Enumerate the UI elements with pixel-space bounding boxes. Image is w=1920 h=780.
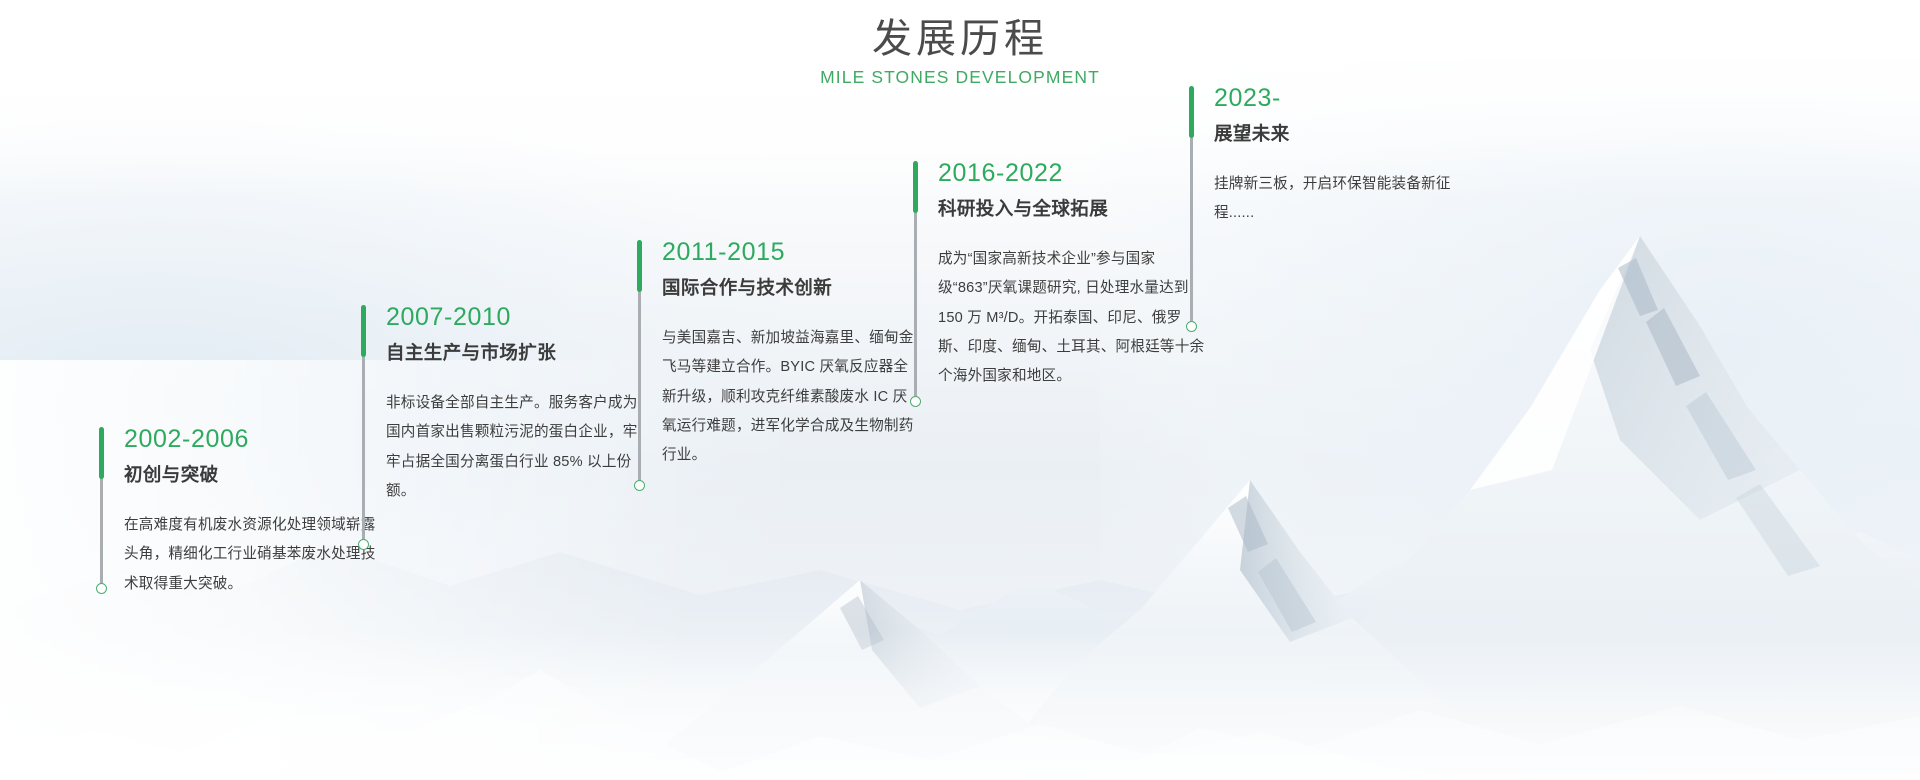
timeline-end-dot-3	[634, 480, 645, 491]
milestone-year-5: 2023-	[1214, 86, 1510, 111]
timeline-rail-3	[638, 240, 641, 485]
timeline-rail-5	[1190, 86, 1193, 326]
timeline-rail-1	[100, 427, 103, 587]
timeline-accent-cap-4	[913, 161, 918, 213]
milestone-desc-1: 在高难度有机废水资源化处理领域崭露头角，精细化工行业硝基苯废水处理技术取得重大突…	[124, 511, 382, 599]
milestone-item-5[interactable]: 2023- 展望未来 挂牌新三板，开启环保智能装备新征程......	[1190, 86, 1510, 229]
timeline-accent-cap-2	[361, 305, 366, 357]
milestone-item-4[interactable]: 2016-2022 科研投入与全球拓展 成为“国家高新技术企业”参与国家级“86…	[914, 161, 1234, 391]
milestone-heading-5: 展望未来	[1214, 122, 1510, 145]
timeline-accent-cap-1	[99, 427, 104, 479]
timeline-end-dot-4	[910, 396, 921, 407]
milestone-body-5: 2023- 展望未来 挂牌新三板，开启环保智能装备新征程......	[1190, 86, 1510, 229]
milestone-item-2[interactable]: 2007-2010 自主生产与市场扩张 非标设备全部自主生产。服务客户成为国内首…	[362, 305, 682, 506]
milestone-desc-4: 成为“国家高新技术企业”参与国家级“863”厌氧课题研究, 日处理水量达到 15…	[938, 245, 1206, 391]
milestone-item-3[interactable]: 2011-2015 国际合作与技术创新 与美国嘉吉、新加坡益海嘉里、缅甸金飞马等…	[638, 240, 958, 470]
timeline-end-dot-1	[96, 583, 107, 594]
timeline-end-dot-5	[1186, 321, 1197, 332]
milestone-desc-2: 非标设备全部自主生产。服务客户成为国内首家出售颗粒污泥的蛋白企业，牢牢占据全国分…	[386, 389, 644, 506]
milestone-body-2: 2007-2010 自主生产与市场扩张 非标设备全部自主生产。服务客户成为国内首…	[362, 305, 682, 506]
timeline-rail-2	[362, 305, 365, 543]
timeline-accent-cap-5	[1189, 86, 1194, 138]
milestone-body-3: 2011-2015 国际合作与技术创新 与美国嘉吉、新加坡益海嘉里、缅甸金飞马等…	[638, 240, 958, 470]
timeline-end-dot-2	[358, 539, 369, 550]
milestone-desc-3: 与美国嘉吉、新加坡益海嘉里、缅甸金飞马等建立合作。BYIC 厌氧反应器全新升级，…	[662, 324, 920, 470]
milestone-desc-5: 挂牌新三板，开启环保智能装备新征程......	[1214, 170, 1482, 228]
milestones-timeline: 2002-2006 初创与突破 在高难度有机废水资源化处理领域崭露头角，精细化工…	[0, 0, 1920, 780]
timeline-rail-4	[914, 161, 917, 401]
milestone-body-4: 2016-2022 科研投入与全球拓展 成为“国家高新技术企业”参与国家级“86…	[914, 161, 1234, 391]
timeline-accent-cap-3	[637, 240, 642, 292]
